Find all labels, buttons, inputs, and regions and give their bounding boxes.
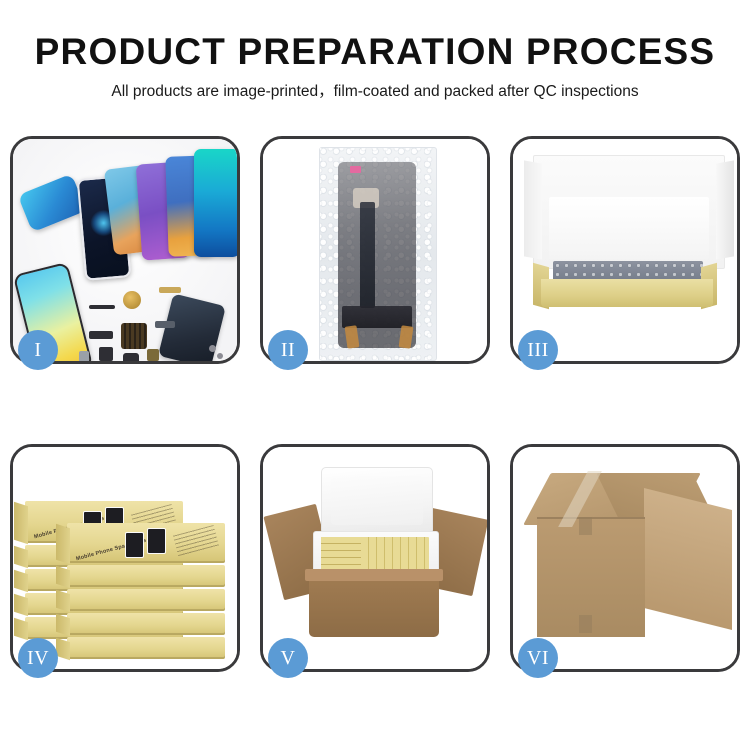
part-ribbon-strip bbox=[89, 305, 115, 309]
process-step-grid: I II bbox=[10, 136, 740, 672]
bubble-wrap-bag bbox=[319, 147, 437, 361]
carton-body bbox=[309, 575, 439, 637]
step-6-image bbox=[513, 447, 737, 669]
box-stack: Mobile Phone Spare Parts Mobile Phone Sp… bbox=[19, 465, 237, 661]
carton-tape-upper bbox=[579, 517, 592, 535]
bubble-wrap-scene bbox=[263, 139, 487, 361]
stacked-box-4 bbox=[67, 613, 225, 635]
part-flex-cable bbox=[89, 331, 113, 339]
step-badge-5: V bbox=[268, 638, 308, 678]
part-vibration-motor bbox=[123, 353, 139, 361]
part-screw-1 bbox=[209, 345, 216, 352]
stacked-box-top: Mobile Phone Spare Parts bbox=[67, 523, 225, 563]
white-foam-sheet bbox=[549, 197, 709, 259]
part-connector-grid bbox=[121, 323, 147, 349]
open-yellow-box-scene bbox=[513, 139, 737, 361]
box-spec-lines-front bbox=[173, 525, 219, 557]
step-badge-4: IV bbox=[18, 638, 58, 678]
screen-flex-cable bbox=[360, 202, 375, 308]
part-speaker-coil bbox=[123, 291, 141, 309]
box-screen-thumb-d bbox=[147, 528, 166, 554]
phone-teal-gradient bbox=[194, 149, 237, 257]
box-screen-thumb-c bbox=[125, 532, 144, 558]
process-step-panel-3[interactable]: III bbox=[510, 136, 740, 364]
step-2-image bbox=[263, 139, 487, 361]
process-step-panel-6[interactable]: VI bbox=[510, 444, 740, 672]
yellow-tray-front bbox=[541, 279, 713, 307]
stacked-boxes-scene: Mobile Phone Spare Parts Mobile Phone Sp… bbox=[13, 447, 237, 669]
process-step-panel-1[interactable]: I bbox=[10, 136, 240, 364]
phones-and-parts-scene bbox=[13, 139, 237, 361]
process-step-panel-5[interactable]: V bbox=[260, 444, 490, 672]
sealed-carton-scene bbox=[513, 447, 737, 669]
part-gold-flex bbox=[159, 287, 181, 293]
part-gold-bracket bbox=[147, 349, 159, 361]
foam-cooler-lid bbox=[321, 467, 433, 535]
step-badge-1: I bbox=[18, 330, 58, 370]
page-subtitle: All products are image-printed，film-coat… bbox=[0, 81, 750, 103]
step-1-image bbox=[13, 139, 237, 361]
step-3-image bbox=[513, 139, 737, 361]
step-badge-2: II bbox=[268, 330, 308, 370]
carton-tape-lower bbox=[579, 615, 592, 633]
page-header: PRODUCT PREPARATION PROCESS All products… bbox=[0, 0, 750, 103]
stacked-box-3 bbox=[67, 589, 225, 611]
part-sim-tray bbox=[79, 351, 89, 361]
page-title: PRODUCT PREPARATION PROCESS bbox=[0, 30, 750, 74]
process-step-panel-4[interactable]: Mobile Phone Spare Parts Mobile Phone Sp… bbox=[10, 444, 240, 672]
carton-with-cooler-scene bbox=[263, 447, 487, 669]
step-badge-6: VI bbox=[518, 638, 558, 678]
step-badge-3: III bbox=[518, 330, 558, 370]
stacked-box-5 bbox=[67, 637, 225, 659]
carton-right-side bbox=[644, 488, 732, 630]
process-step-panel-2[interactable]: II bbox=[260, 136, 490, 364]
qc-sticker bbox=[350, 166, 361, 173]
step-5-image bbox=[263, 447, 487, 669]
part-metal-shield bbox=[155, 321, 175, 328]
part-camera-module bbox=[99, 347, 113, 361]
blue-screen-film bbox=[18, 174, 87, 233]
step-4-image: Mobile Phone Spare Parts Mobile Phone Sp… bbox=[13, 447, 237, 669]
part-screw-2 bbox=[217, 353, 223, 359]
stacked-box-2 bbox=[67, 565, 225, 587]
